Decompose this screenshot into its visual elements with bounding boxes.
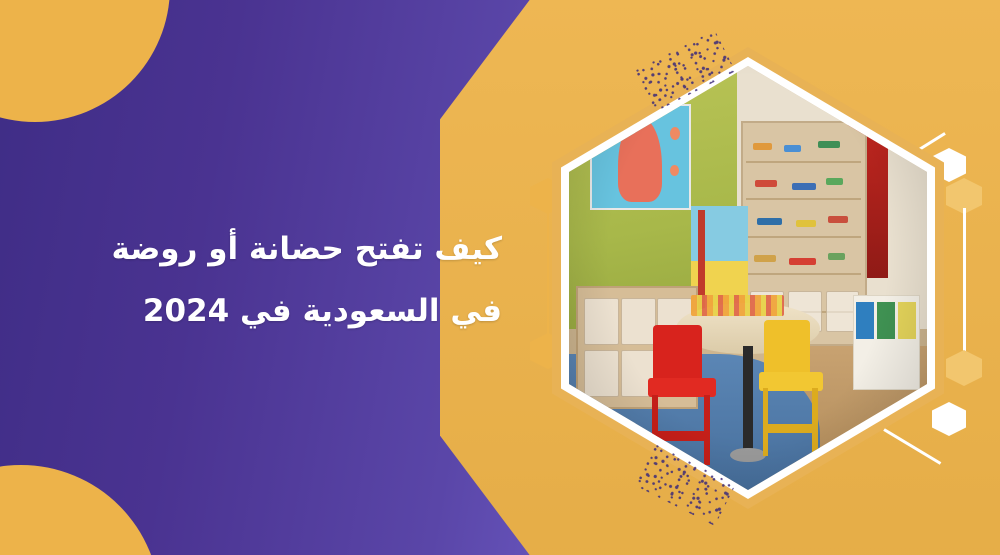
page-title: كيف تفتح حضانة أو روضة في السعودية في 20… [40,218,502,342]
banner-root: كيف تفتح حضانة أو روضة في السعودية في 20… [0,0,1000,555]
connector-line-right-vertical [963,208,966,356]
headline-line-1: كيف تفتح حضانة أو روضة [40,218,502,280]
hexagon-photo-frame [552,47,944,509]
headline-line-2: في السعودية في 2024 [40,280,502,342]
connector-line-left-vertical [547,210,549,338]
hex-node-right-lower [946,350,982,386]
